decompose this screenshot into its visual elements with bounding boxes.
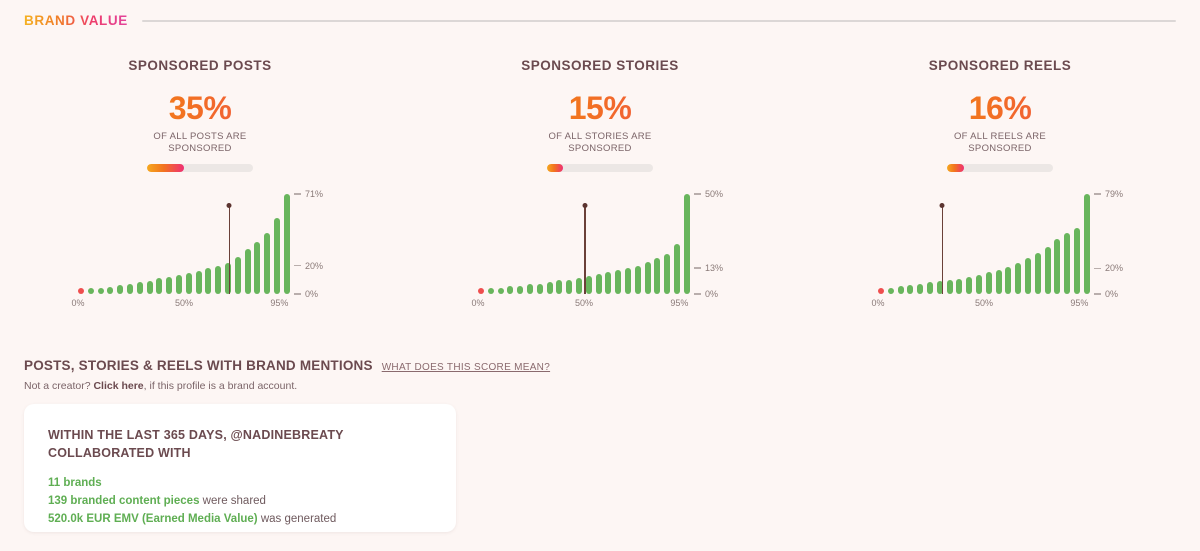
- chart-x-tick-label: 50%: [575, 298, 593, 308]
- chart-y-tick-label: 71%: [305, 189, 323, 199]
- chart-bar: [215, 266, 221, 294]
- chart-bar: [98, 288, 104, 294]
- chart-bar: [127, 284, 133, 294]
- chart-bar: [1015, 263, 1021, 293]
- chart-y-tick: 50%: [694, 189, 723, 199]
- chart-bar: [205, 268, 211, 293]
- collaboration-stat-text: was generated: [258, 513, 337, 525]
- chart-bar: [664, 254, 670, 294]
- chart-y-tick-label: 50%: [705, 189, 723, 199]
- chart-bar: [186, 273, 192, 294]
- chart-bar: [1084, 194, 1090, 294]
- chart-bar: [527, 284, 533, 294]
- chart-y-tick-dash: [294, 265, 301, 267]
- collaboration-card-title: WITHIN THE LAST 365 DAYS, @NADINEBREATY …: [48, 426, 432, 462]
- chart-bar: [917, 284, 923, 294]
- chart-bar: [284, 194, 290, 294]
- collaboration-stats: 11 brands139 branded content pieces were…: [48, 475, 432, 528]
- sponsored-percent: 35%: [0, 92, 400, 124]
- chart-y-tick-label: 0%: [1105, 289, 1118, 299]
- what-does-this-score-mean-link[interactable]: WHAT DOES THIS SCORE MEAN?: [382, 362, 550, 373]
- sponsored-panel: SPONSORED POSTS35%OF ALL POSTS ARESPONSO…: [0, 58, 400, 314]
- chart-bar: [596, 274, 602, 294]
- chart-bar: [245, 249, 251, 294]
- sponsored-percent-label: OF ALL POSTS ARESPONSORED: [0, 131, 400, 155]
- chart-plot-area: [78, 194, 290, 294]
- chart-y-tick: 13%: [694, 263, 723, 273]
- chart-bar-first: [478, 288, 484, 294]
- chart-y-tick: 0%: [694, 289, 718, 299]
- chart-y-tick-label: 79%: [1105, 189, 1123, 199]
- sponsored-percent-label: OF ALL REELS ARESPONSORED: [800, 131, 1200, 155]
- sponsored-progress-track: [547, 164, 653, 172]
- chart-bar: [488, 288, 494, 294]
- panel-title: SPONSORED REELS: [800, 58, 1200, 73]
- sponsored-panel: SPONSORED STORIES15%OF ALL STORIES ARESP…: [400, 58, 800, 314]
- sponsored-progress-fill: [547, 164, 563, 172]
- chart-bar: [674, 244, 680, 294]
- brand-account-note-suffix: , if this profile is a brand account.: [144, 380, 298, 392]
- chart-bar: [274, 218, 280, 294]
- chart-bar: [176, 275, 182, 293]
- brand-account-note: Not a creator? Click here, if this profi…: [24, 380, 550, 392]
- chart-bar-first: [878, 288, 884, 294]
- collaboration-stat-value: 520.0k EUR EMV (Earned Media Value): [48, 513, 258, 525]
- header-divider: [142, 20, 1176, 22]
- chart-y-tick-dash: [1094, 293, 1101, 295]
- chart-y-tick-dash: [1094, 193, 1101, 195]
- chart-bars: [78, 194, 290, 294]
- page-title: BRAND VALUE: [24, 13, 128, 28]
- chart-bar: [537, 284, 543, 294]
- collaboration-stat-value: 139 branded content pieces: [48, 495, 199, 507]
- collaboration-stat-row: 520.0k EUR EMV (Earned Media Value) was …: [48, 511, 432, 529]
- chart-bar: [147, 281, 153, 294]
- chart-bar: [576, 278, 582, 294]
- chart-bar: [547, 282, 553, 294]
- chart-x-tick-label: 50%: [975, 298, 993, 308]
- percentile-marker-dot: [227, 203, 232, 208]
- chart-y-axis: 0%13%50%: [694, 194, 734, 294]
- chart-bar: [635, 266, 641, 294]
- chart-bar: [1005, 267, 1011, 294]
- chart-bar: [235, 257, 241, 294]
- brand-value-header: BRAND VALUE: [24, 13, 1176, 28]
- brand-account-note-prefix: Not a creator?: [24, 380, 93, 392]
- chart-bar: [986, 272, 992, 294]
- chart-bar: [507, 286, 513, 294]
- chart-bar: [684, 194, 690, 294]
- chart-bar: [625, 268, 631, 294]
- chart-bar: [1054, 239, 1060, 293]
- collaboration-stat-row: 139 branded content pieces were shared: [48, 493, 432, 511]
- chart-bars: [878, 194, 1090, 294]
- chart-y-tick-dash: [694, 293, 701, 295]
- chart-bar: [888, 288, 894, 294]
- chart-x-tick-label: 50%: [175, 298, 193, 308]
- chart-y-tick-dash: [694, 193, 701, 195]
- distribution-chart: 0%13%50%0%50%95%: [470, 194, 730, 314]
- chart-bar: [1025, 258, 1031, 293]
- chart-bar: [498, 288, 504, 294]
- collaboration-stat-value: 11 brands: [48, 477, 102, 489]
- chart-bar: [927, 282, 933, 293]
- percentile-marker-dot: [940, 203, 945, 208]
- collaboration-card: WITHIN THE LAST 365 DAYS, @NADINEBREATY …: [24, 404, 456, 532]
- chart-x-axis: 0%50%95%: [478, 298, 690, 312]
- chart-bar: [605, 272, 611, 294]
- chart-y-tick-label: 20%: [1105, 263, 1123, 273]
- sponsored-panels: SPONSORED POSTS35%OF ALL POSTS ARESPONSO…: [0, 58, 1200, 314]
- chart-y-tick: 0%: [1094, 289, 1118, 299]
- collaboration-stat-text: were shared: [199, 495, 265, 507]
- chart-bar: [117, 285, 123, 293]
- chart-bar: [566, 280, 572, 294]
- percentile-marker: [229, 206, 231, 294]
- panel-title: SPONSORED POSTS: [0, 58, 400, 73]
- distribution-chart: 0%20%79%0%50%95%: [870, 194, 1130, 314]
- distribution-chart: 0%20%71%0%50%95%: [70, 194, 330, 314]
- chart-bar: [166, 277, 172, 294]
- chart-y-tick-label: 0%: [305, 289, 318, 299]
- chart-bar: [196, 271, 202, 294]
- chart-bar: [1074, 228, 1080, 294]
- chart-bar: [947, 280, 953, 294]
- chart-x-tick-label: 95%: [270, 298, 288, 308]
- brand-mentions-heading-row: POSTS, STORIES & REELS WITH BRAND MENTIO…: [24, 358, 550, 373]
- click-here-link[interactable]: Click here: [93, 380, 143, 392]
- sponsored-percent: 15%: [400, 92, 800, 124]
- chart-x-tick-label: 0%: [471, 298, 484, 308]
- sponsored-panel: SPONSORED REELS16%OF ALL REELS ARESPONSO…: [800, 58, 1200, 314]
- brand-mentions-title: POSTS, STORIES & REELS WITH BRAND MENTIO…: [24, 358, 373, 373]
- chart-y-tick-label: 0%: [705, 289, 718, 299]
- chart-y-tick-label: 13%: [705, 263, 723, 273]
- chart-bar: [264, 233, 270, 294]
- chart-x-axis: 0%50%95%: [878, 298, 1090, 312]
- percentile-marker-dot: [582, 203, 587, 208]
- chart-y-tick: 20%: [1094, 263, 1123, 273]
- brand-value-page: BRAND VALUE SPONSORED POSTS35%OF ALL POS…: [0, 0, 1200, 551]
- chart-bar: [907, 285, 913, 294]
- chart-x-tick-label: 95%: [1070, 298, 1088, 308]
- chart-bar: [254, 242, 260, 294]
- chart-y-tick: 79%: [1094, 189, 1123, 199]
- chart-y-tick-dash: [294, 293, 301, 295]
- chart-bar: [956, 279, 962, 294]
- collaboration-stat-row: 11 brands: [48, 475, 432, 493]
- chart-y-tick: 20%: [294, 261, 323, 271]
- chart-y-tick-label: 20%: [305, 261, 323, 271]
- chart-x-axis: 0%50%95%: [78, 298, 290, 312]
- chart-bar: [654, 258, 660, 294]
- chart-plot-area: [478, 194, 690, 294]
- chart-bar: [1045, 247, 1051, 294]
- chart-bar: [898, 286, 904, 294]
- panel-title: SPONSORED STORIES: [400, 58, 800, 73]
- chart-y-axis: 0%20%71%: [294, 194, 334, 294]
- percentile-marker: [942, 206, 944, 294]
- chart-y-tick: 0%: [294, 289, 318, 299]
- chart-bar: [517, 286, 523, 294]
- chart-bar: [137, 282, 143, 293]
- sponsored-percent: 16%: [800, 92, 1200, 124]
- chart-x-tick-label: 0%: [71, 298, 84, 308]
- chart-bar: [107, 287, 113, 294]
- chart-bar: [966, 277, 972, 293]
- chart-bar: [996, 270, 1002, 294]
- chart-y-tick-dash: [694, 267, 701, 269]
- sponsored-progress-track: [147, 164, 253, 172]
- sponsored-progress-track: [947, 164, 1053, 172]
- brand-mentions-section: POSTS, STORIES & REELS WITH BRAND MENTIO…: [24, 358, 550, 392]
- chart-bar-first: [78, 288, 84, 294]
- sponsored-progress-fill: [947, 164, 964, 172]
- sponsored-progress-fill: [147, 164, 184, 172]
- chart-bar: [88, 288, 94, 294]
- chart-x-tick-label: 0%: [871, 298, 884, 308]
- chart-y-tick-dash: [1094, 268, 1101, 270]
- chart-bar: [586, 276, 592, 294]
- percentile-marker: [584, 206, 586, 294]
- chart-bar: [156, 278, 162, 293]
- chart-y-tick: 71%: [294, 189, 323, 199]
- chart-plot-area: [878, 194, 1090, 294]
- chart-bar: [645, 262, 651, 294]
- chart-bar: [615, 270, 621, 294]
- chart-bar: [556, 280, 562, 294]
- chart-bar: [1064, 233, 1070, 294]
- chart-bar: [1035, 253, 1041, 294]
- chart-y-tick-dash: [294, 193, 301, 195]
- sponsored-percent-label: OF ALL STORIES ARESPONSORED: [400, 131, 800, 155]
- chart-x-tick-label: 95%: [670, 298, 688, 308]
- chart-bar: [976, 275, 982, 294]
- chart-y-axis: 0%20%79%: [1094, 194, 1134, 294]
